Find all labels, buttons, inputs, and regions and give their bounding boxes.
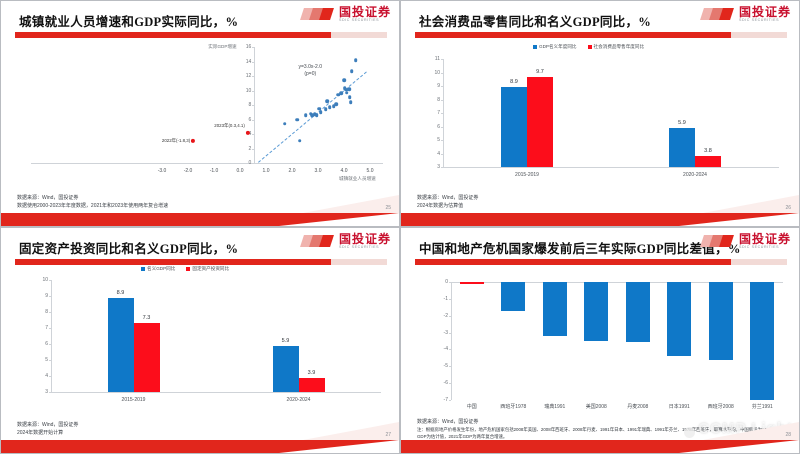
y-tick-mark: [252, 149, 254, 150]
y-tick-label: 6: [38, 341, 48, 347]
y-tick-label: 10: [430, 70, 440, 76]
negative-bar-chart: 0-1-2-3-4-5-6-7中国西班牙1978瑞典1991美国2008丹麦20…: [401, 266, 800, 418]
y-tick-mark: [49, 312, 51, 313]
x-category-label: 中国: [467, 403, 477, 410]
y-tick-label: 0: [242, 160, 251, 166]
y-tick-mark: [49, 328, 51, 329]
page-title: 固定资产投资同比和名义GDP同比，%: [19, 238, 238, 257]
y-tick-mark: [252, 163, 254, 164]
source-note: 数据来源：Wind，国投证券: [417, 195, 478, 203]
data-point: [295, 118, 299, 122]
y-tick-label: 7: [430, 110, 440, 116]
data-point: [349, 100, 353, 104]
page-number: 28: [785, 432, 791, 438]
data-point: [342, 79, 346, 83]
y-tick-mark: [441, 140, 443, 141]
logo-mark-icon: [702, 6, 736, 23]
y-tick-label: 3: [38, 389, 48, 395]
source-note-2: 2024年数据开始计算: [17, 430, 63, 438]
x-axis: [443, 167, 779, 168]
data-point: [340, 92, 344, 96]
x-tick-label: -2.0: [184, 168, 193, 174]
slide-grid: 城镇就业人员增速和GDP实际同比，% 国投证券 SDIC SECURITIES …: [0, 0, 800, 454]
footer-wedge: [679, 213, 799, 226]
page-number: 26: [785, 205, 791, 211]
data-point: [354, 58, 358, 62]
y-axis: [443, 59, 444, 167]
bar-value-label: 8.9: [510, 79, 518, 85]
y-axis: [254, 47, 255, 163]
bar-value-label: 7.3: [143, 315, 151, 321]
x-tick-label: -1.0: [210, 168, 219, 174]
legend-label: 社会消费品零售年度同比: [594, 44, 645, 50]
y-tick-label: 4: [430, 151, 440, 157]
data-point-label: 2022年(-1.8,3): [162, 138, 190, 144]
y-tick-label: 4: [38, 373, 48, 379]
y-tick-mark: [441, 59, 443, 60]
bar: [667, 282, 691, 356]
source-note: 数据来源：Wind，国投证券: [17, 422, 78, 430]
y-tick-mark: [441, 154, 443, 155]
y-tick-mark: [449, 383, 451, 384]
legend-label: 名义GDP同比: [147, 266, 175, 272]
logo-text: 国投证券 SDIC SECURITIES: [739, 233, 791, 250]
bar: [709, 282, 733, 360]
y-tick-label: 2: [242, 146, 251, 152]
bar: [501, 87, 527, 167]
bar: [108, 298, 134, 392]
x-category-label: 西班牙1978: [500, 403, 526, 410]
y-tick-mark: [441, 86, 443, 87]
source-note: 数据来源：Wind，国投证券: [417, 419, 478, 427]
bar-value-label: 3.8: [704, 148, 712, 154]
x-tick-label: -3.0: [158, 168, 167, 174]
y-tick-label: 8: [430, 97, 440, 103]
brand-logo: 国投证券 SDIC SECURITIES: [702, 6, 791, 23]
y-tick-label: 11: [430, 56, 440, 62]
y-axis: [451, 282, 452, 400]
source-note: 数据来源：Wind，国投证券: [17, 195, 78, 203]
logo-cn: 国投证券: [739, 6, 791, 18]
chart-legend: 名义GDP同比固定资产投资同比: [141, 266, 229, 272]
logo-cn: 国投证券: [339, 6, 391, 18]
footer-bar: [401, 213, 799, 226]
logo-en: SDIC SECURITIES: [339, 246, 391, 250]
legend-item[interactable]: 社会消费品零售年度同比: [588, 44, 645, 50]
data-point: [347, 87, 351, 91]
logo-mark-icon: [302, 6, 336, 23]
y-tick-mark: [252, 134, 254, 135]
legend-swatch: [141, 267, 145, 271]
brand-logo: 国投证券 SDIC SECURITIES: [702, 233, 791, 250]
y-tick-mark: [252, 91, 254, 92]
bar-value-label: 5.9: [282, 338, 290, 344]
x-category-label: 美国2008: [586, 403, 607, 410]
bar: [584, 282, 608, 341]
x-category-label: 2020-2024: [683, 172, 707, 178]
x-tick-label: 1.0: [263, 168, 270, 174]
logo-mark-icon: [302, 233, 336, 250]
y-tick-mark: [252, 105, 254, 106]
bar: [501, 282, 525, 311]
y-tick-label: -4: [437, 346, 448, 352]
watermark-badge: [684, 427, 695, 438]
page-number: 27: [385, 432, 391, 438]
y-tick-mark: [252, 62, 254, 63]
data-point: [345, 91, 349, 95]
logo-text: 国投证券 SDIC SECURITIES: [339, 6, 391, 23]
legend-label: 固定资产投资同比: [192, 266, 229, 272]
y-tick-mark: [49, 376, 51, 377]
page-title: 社会消费品零售同比和名义GDP同比，%: [419, 11, 651, 30]
y-tick-label: 8: [38, 309, 48, 315]
source-note-2: 2024年数据为估算值: [417, 203, 463, 211]
y-tick-label: 9: [38, 293, 48, 299]
y-tick-label: 12: [242, 73, 251, 79]
data-point: [334, 102, 338, 106]
page-title: 城镇就业人员增速和GDP实际同比，%: [19, 11, 238, 30]
y-tick-label: 6: [430, 124, 440, 130]
logo-text: 国投证券 SDIC SECURITIES: [339, 233, 391, 250]
y-tick-mark: [441, 100, 443, 101]
slide-property-crisis: 中国和地产危机国家爆发前后三年实际GDP同比差值，% 国投证券 SDIC SEC…: [400, 227, 800, 454]
y-tick-mark: [449, 349, 451, 350]
y-tick-mark: [252, 47, 254, 48]
title-rule-tail: [731, 32, 787, 38]
y-tick-mark: [49, 392, 51, 393]
y-tick-mark: [449, 366, 451, 367]
legend-label: GDP名义年度同比: [539, 44, 577, 50]
chart-legend: GDP名义年度同比社会消费品零售年度同比: [533, 44, 644, 50]
bar: [460, 282, 484, 284]
y-axis-title: 实际GDP增速: [208, 44, 236, 50]
y-tick-mark: [441, 127, 443, 128]
data-point: [315, 113, 319, 117]
data-point: [319, 110, 323, 114]
y-axis: [51, 280, 52, 392]
x-tick-label: 2.0: [289, 168, 296, 174]
x-category-label: 2020-2024: [287, 397, 311, 403]
legend-swatch: [588, 45, 592, 49]
legend-item[interactable]: 名义GDP同比: [141, 266, 175, 272]
bar: [669, 128, 695, 167]
x-category-label: 日本1991: [669, 403, 690, 410]
x-category-label: 2015-2019: [515, 172, 539, 178]
y-tick-label: -3: [437, 330, 448, 336]
bar: [750, 282, 774, 400]
y-tick-label: 10: [242, 88, 251, 94]
footer-wedge: [279, 213, 399, 226]
data-point: [348, 95, 352, 99]
bar: [299, 378, 325, 392]
x-category-label: 西班牙2008: [708, 403, 734, 410]
title-rule: [415, 32, 731, 38]
x-category-label: 芬兰1991: [752, 403, 773, 410]
logo-text: 国投证券 SDIC SECURITIES: [739, 6, 791, 23]
x-category-label: 瑞典1991: [544, 403, 565, 410]
x-axis: [51, 392, 381, 393]
bar: [134, 323, 160, 392]
logo-mark-icon: [702, 233, 736, 250]
x-category-label: 丹麦2008: [627, 403, 648, 410]
page-title: 中国和地产危机国家爆发前后三年实际GDP同比差值，%: [419, 238, 741, 257]
y-tick-label: 8: [242, 102, 251, 108]
legend-item[interactable]: 固定资产投资同比: [186, 266, 229, 272]
y-tick-label: -2: [437, 313, 448, 319]
trend-line: [258, 72, 367, 163]
y-tick-mark: [49, 360, 51, 361]
logo-en: SDIC SECURITIES: [739, 246, 791, 250]
x-category-label: 2015-2019: [122, 397, 146, 403]
footer-bar: [1, 213, 399, 226]
data-point: [283, 122, 287, 126]
bar: [543, 282, 567, 336]
y-tick-mark: [441, 73, 443, 74]
y-tick-mark: [252, 76, 254, 77]
grouped-bar-chart: GDP名义年度同比社会消费品零售年度同比345678910112015-2019…: [401, 41, 800, 191]
x-tick-label: 0.0: [237, 168, 244, 174]
bar-value-label: 8.9: [117, 290, 125, 296]
brand-logo: 国投证券 SDIC SECURITIES: [302, 6, 391, 23]
title-rule: [15, 259, 331, 265]
y-tick-mark: [449, 333, 451, 334]
y-tick-mark: [252, 120, 254, 121]
y-tick-label: 3: [430, 164, 440, 170]
y-tick-label: -1: [437, 296, 448, 302]
title-rule: [415, 259, 731, 265]
title-rule: [15, 32, 331, 38]
y-tick-label: 0: [437, 279, 448, 285]
data-point: [304, 113, 308, 117]
title-rule-tail: [331, 32, 387, 38]
y-tick-mark: [49, 296, 51, 297]
x-axis-title: 城镇就业人员增速: [339, 176, 376, 182]
legend-swatch: [533, 45, 537, 49]
bar-value-label: 9.7: [536, 69, 544, 75]
highlighted-data-point: [191, 139, 195, 143]
footer-wedge: [279, 440, 399, 453]
logo-cn: 国投证券: [339, 233, 391, 245]
y-tick-mark: [449, 316, 451, 317]
slide-fai-gdp: 固定资产投资同比和名义GDP同比，% 国投证券 SDIC SECURITIES …: [0, 227, 400, 454]
logo-cn: 国投证券: [739, 233, 791, 245]
data-point-label: 2023年(0.3,4.1): [214, 123, 245, 129]
y-tick-label: 7: [38, 325, 48, 331]
bar: [626, 282, 650, 342]
y-tick-mark: [449, 400, 451, 401]
y-tick-label: -5: [437, 363, 448, 369]
y-tick-label: 5: [430, 137, 440, 143]
y-tick-label: 9: [430, 83, 440, 89]
bar-value-label: 3.9: [308, 370, 316, 376]
data-point: [325, 100, 329, 104]
legend-item[interactable]: GDP名义年度同比: [533, 44, 577, 50]
y-tick-label: 6: [242, 117, 251, 123]
bar-value-label: 5.9: [678, 120, 686, 126]
logo-en: SDIC SECURITIES: [339, 19, 391, 23]
legend-swatch: [186, 267, 190, 271]
scatter-plot: 0246810121416-3.0-2.0-1.00.01.02.03.04.0…: [1, 39, 400, 189]
x-tick-label: 3.0: [315, 168, 322, 174]
bar: [273, 346, 299, 392]
bar: [527, 77, 553, 167]
y-tick-mark: [449, 282, 451, 283]
data-point: [350, 69, 354, 73]
footer-wedge: [679, 440, 799, 453]
bar: [695, 156, 721, 167]
x-axis: [31, 163, 383, 164]
title-rule-tail: [731, 259, 787, 265]
y-tick-label: 5: [38, 357, 48, 363]
y-tick-mark: [449, 299, 451, 300]
slide-employment-gdp: 城镇就业人员增速和GDP实际同比，% 国投证券 SDIC SECURITIES …: [0, 0, 400, 227]
footer-bar: [401, 440, 799, 453]
data-point: [298, 139, 302, 143]
y-tick-mark: [441, 113, 443, 114]
x-tick-label: 4.0: [341, 168, 348, 174]
page-number: 25: [385, 205, 391, 211]
regression-equation: y=3.0x-2.0(p=0): [299, 64, 323, 78]
slide-retail-gdp: 社会消费品零售同比和名义GDP同比，% 国投证券 SDIC SECURITIES…: [400, 0, 800, 227]
x-tick-label: 5.0: [367, 168, 374, 174]
title-rule-tail: [331, 259, 387, 265]
y-tick-label: 16: [242, 44, 251, 50]
y-tick-label: 14: [242, 59, 251, 65]
brand-logo: 国投证券 SDIC SECURITIES: [302, 233, 391, 250]
y-tick-label: -6: [437, 380, 448, 386]
logo-en: SDIC SECURITIES: [739, 19, 791, 23]
grouped-bar-chart: 名义GDP同比固定资产投资同比3456789102015-20198.97.32…: [1, 266, 400, 416]
y-tick-label: -7: [437, 397, 448, 403]
source-note-2: 数据使用2000-2023年年度数据，2021年和2023年使用两年复合增速: [17, 203, 168, 211]
y-tick-mark: [49, 280, 51, 281]
y-tick-mark: [49, 344, 51, 345]
footer-bar: [1, 440, 399, 453]
y-tick-mark: [441, 167, 443, 168]
y-tick-label: 10: [38, 277, 48, 283]
